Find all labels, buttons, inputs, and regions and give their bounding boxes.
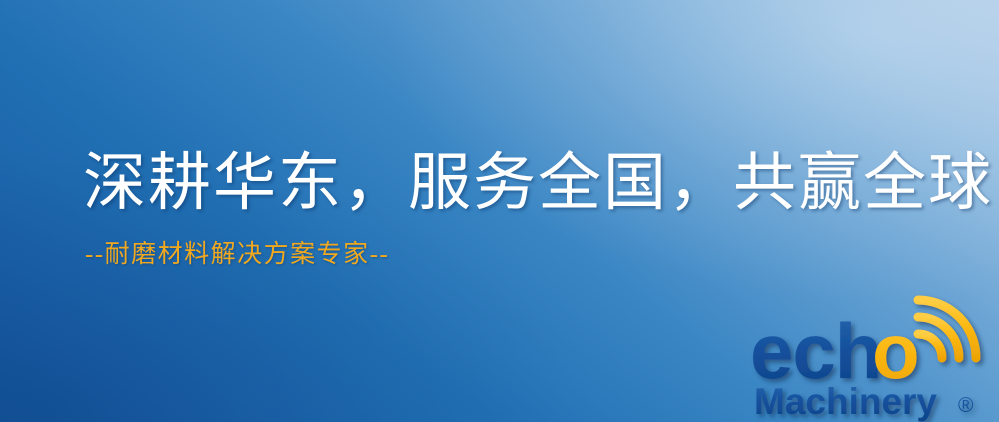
echo-wave-arcs-icon	[918, 300, 976, 358]
banner-subtitle: --耐磨材料解决方案专家--	[85, 240, 993, 270]
logo-trademark-symbol: ®	[958, 394, 974, 417]
banner-text-block: 深耕华东，服务全国，共赢全球 --耐磨材料解决方案专家--	[83, 150, 993, 270]
echo-machinery-logo[interactable]: ech o Machinery ®	[744, 292, 999, 422]
hero-banner: 深耕华东，服务全国，共赢全球 --耐磨材料解决方案专家--	[0, 0, 999, 422]
banner-headline: 深耕华东，服务全国，共赢全球	[83, 150, 993, 216]
logo-tagline: Machinery	[754, 381, 937, 422]
